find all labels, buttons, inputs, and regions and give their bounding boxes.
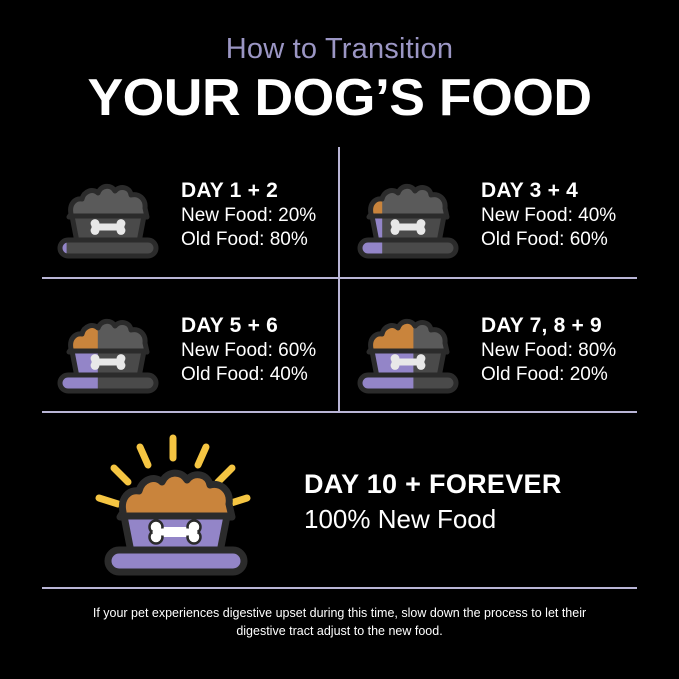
step-card-3-text: DAY 5 + 6 New Food: 60% Old Food: 40% [175, 314, 335, 387]
step-card-4-text: DAY 7, 8 + 9 New Food: 80% Old Food: 20% [475, 314, 635, 387]
step-card-3: DAY 5 + 6 New Food: 60% Old Food: 40% [45, 298, 335, 403]
dog-bowl-shining-icon [45, 428, 300, 578]
header: How to Transition YOUR DOG’S FOOD [0, 34, 679, 127]
step-old-food: Old Food: 60% [481, 228, 635, 252]
dog-bowl-icon [45, 170, 175, 262]
final-step-card: DAY 10 + FOREVER 100% New Food [45, 425, 637, 580]
dog-bowl-shining-icon-svg [78, 428, 268, 578]
final-step-text: DAY 10 + FOREVER 100% New Food [300, 468, 637, 536]
step-card-4: DAY 7, 8 + 9 New Food: 80% Old Food: 20% [345, 298, 635, 403]
step-old-food: Old Food: 40% [181, 363, 335, 387]
step-day-label: DAY 1 + 2 [181, 179, 335, 204]
dog-bowl-icon-svg [351, 305, 469, 397]
step-old-food: Old Food: 80% [181, 228, 335, 252]
final-sub-label: 100% New Food [304, 503, 637, 537]
page-subtitle: How to Transition [0, 34, 679, 64]
footer-note: If your pet experiences digestive upset … [70, 604, 609, 640]
page-title: YOUR DOG’S FOOD [0, 70, 679, 126]
kibble-mound [120, 473, 232, 517]
dog-bowl-icon [45, 305, 175, 397]
step-old-food: Old Food: 20% [481, 363, 635, 387]
step-new-food: New Food: 80% [481, 339, 635, 363]
step-day-label: DAY 5 + 6 [181, 314, 335, 339]
dog-bowl-icon [345, 305, 475, 397]
divider-vertical [338, 147, 340, 413]
dog-bowl-icon-svg [51, 305, 169, 397]
step-new-food: New Food: 20% [181, 204, 335, 228]
step-card-2: DAY 3 + 4 New Food: 40% Old Food: 60% [345, 163, 635, 268]
dog-bowl-icon-svg [51, 170, 169, 262]
step-card-1-text: DAY 1 + 2 New Food: 20% Old Food: 80% [175, 179, 335, 252]
bowl-base [108, 550, 244, 572]
step-day-label: DAY 3 + 4 [481, 179, 635, 204]
step-new-food: New Food: 60% [181, 339, 335, 363]
step-card-2-text: DAY 3 + 4 New Food: 40% Old Food: 60% [475, 179, 635, 252]
step-card-1: DAY 1 + 2 New Food: 20% Old Food: 80% [45, 163, 335, 268]
final-day-label: DAY 10 + FOREVER [304, 468, 637, 500]
dog-bowl-icon-svg [351, 170, 469, 262]
step-new-food: New Food: 40% [481, 204, 635, 228]
dog-bowl-icon [345, 170, 475, 262]
transition-infographic: How to Transition YOUR DOG’S FOOD [0, 0, 679, 679]
step-day-label: DAY 7, 8 + 9 [481, 314, 635, 339]
divider-horizontal-bottom [42, 587, 637, 589]
